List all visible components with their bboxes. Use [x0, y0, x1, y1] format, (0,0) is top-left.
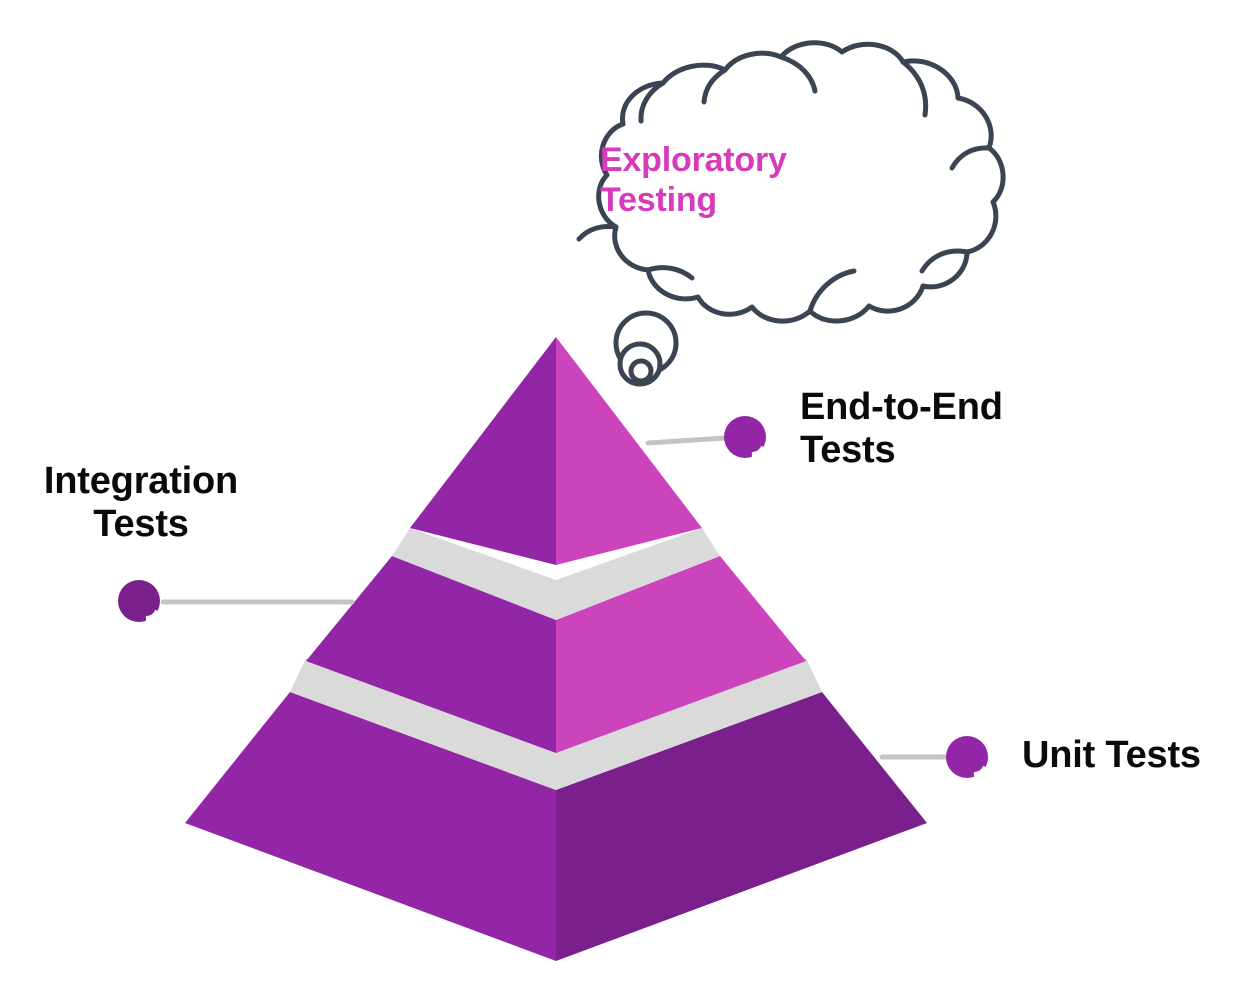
callout-unit-connector[interactable] — [882, 736, 990, 782]
thought-bubble-inner-arc-9 — [579, 227, 616, 240]
diagram-canvas: Exploratory Testing End-to-End Tests Int… — [0, 0, 1258, 1000]
callout-label-unit: Unit Tests — [1022, 734, 1201, 777]
callout-integration-connector[interactable] — [118, 580, 352, 626]
pyramid-tier-top-left-face — [410, 337, 556, 565]
callout-label-end-to-end: End-to-End Tests — [800, 386, 1003, 471]
thought-bubble-tail-small — [631, 361, 651, 381]
callout-label-integration: Integration Tests — [16, 460, 266, 545]
callout-end-to-end-connector[interactable] — [648, 416, 768, 462]
exploratory-testing-label: Exploratory Testing — [600, 140, 900, 220]
